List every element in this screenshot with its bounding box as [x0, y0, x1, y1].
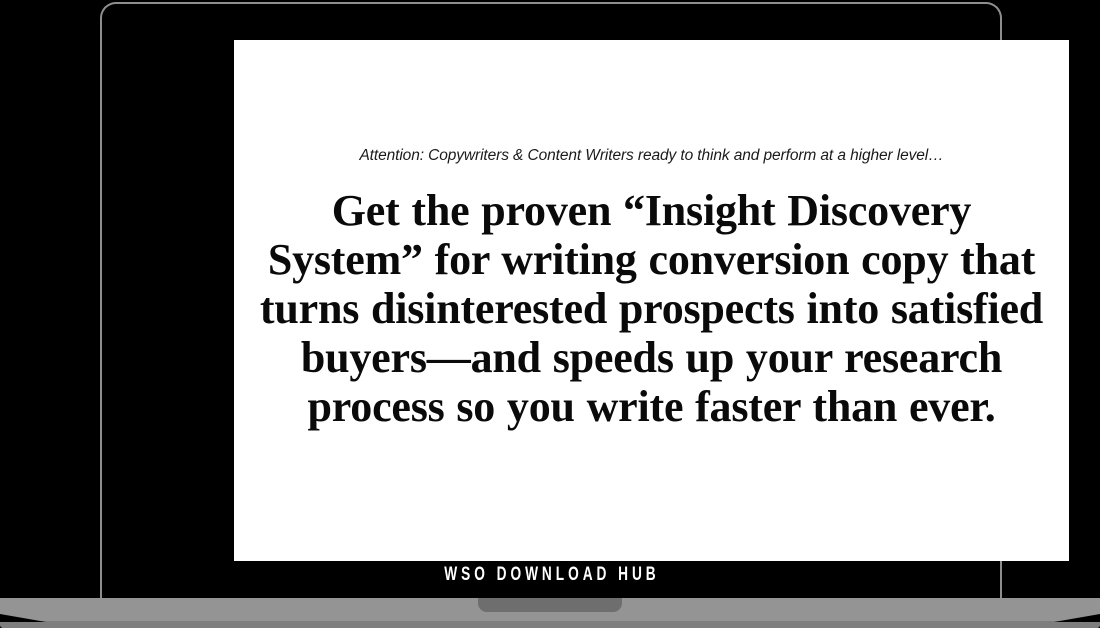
sales-page-content: Attention: Copywriters & Content Writers…	[234, 40, 1069, 431]
laptop-screen: Attention: Copywriters & Content Writers…	[234, 40, 1069, 561]
laptop-lid: Attention: Copywriters & Content Writers…	[100, 2, 1002, 598]
watermark-label: WSO DOWNLOAD HUB	[154, 563, 946, 587]
laptop-base-lip	[0, 621, 1100, 628]
trackpad-notch	[478, 598, 622, 612]
screenshot-canvas: Attention: Copywriters & Content Writers…	[0, 0, 1100, 628]
eyebrow-text: Attention: Copywriters & Content Writers…	[234, 146, 1069, 166]
page-headline: Get the proven “Insight Discovery System…	[234, 186, 1069, 431]
laptop-base	[0, 598, 1100, 628]
